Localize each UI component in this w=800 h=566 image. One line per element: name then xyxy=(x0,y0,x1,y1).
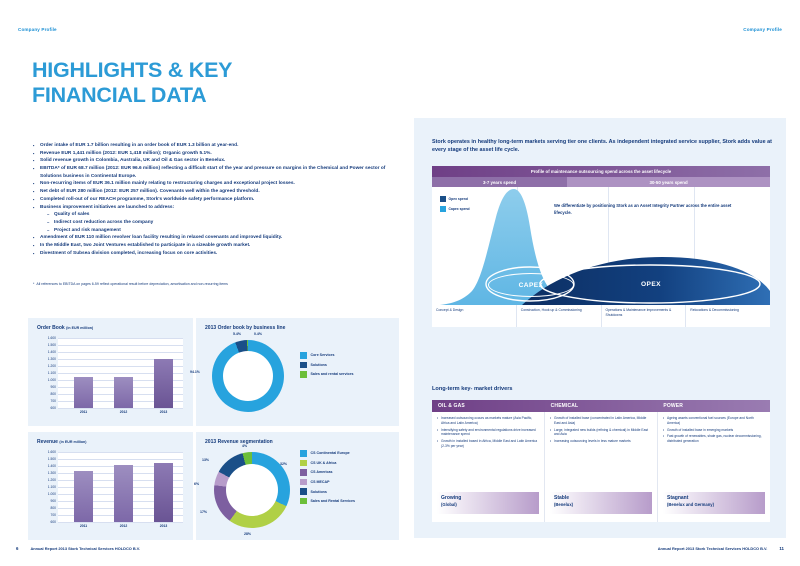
slice-value-label: 13% xyxy=(202,458,209,462)
legend-swatch xyxy=(300,488,307,495)
chart-unit: (in EUR million) xyxy=(59,440,86,444)
y-tick-label: 1.300 xyxy=(48,357,56,361)
legend-item: Sales and Rental Services xyxy=(300,498,355,505)
slice-value-label: 0.4% xyxy=(254,332,262,336)
chart-order-book: Order Book (in EUR million) 1.6001.5001.… xyxy=(28,318,193,426)
column-header: POWER xyxy=(657,400,770,412)
y-tick-label: 1.400 xyxy=(48,464,56,468)
slice-value-label: 4% xyxy=(242,444,247,448)
y-tick-label: 900 xyxy=(50,385,56,389)
table-body: •Increased outsourcing occurs as markets… xyxy=(432,412,770,522)
highlight-sub-item: –Quality of sales xyxy=(47,211,405,219)
gridline xyxy=(58,345,183,346)
legend-label: Sales and Rental Services xyxy=(311,499,356,503)
chart-legend: Core ServicesSolutionsSales and rental s… xyxy=(300,352,353,381)
chart-title-text: Revenue xyxy=(37,439,58,445)
dash-marker-icon: – xyxy=(47,219,54,227)
outlook-badge: Stable(Benelux) xyxy=(550,492,652,514)
driver-item: •Increased outsourcing occurs as markets… xyxy=(437,416,539,425)
outlook-badge: Stagnant(Benelux and Germany) xyxy=(663,492,765,514)
donut-hole xyxy=(223,351,273,401)
highlight-text: Amendment of EUR 110 million revolver lo… xyxy=(40,234,405,242)
chart-title: 2013 Revenue segmentation xyxy=(205,439,273,445)
footer-right: Annual Report 2013 Stork Technical Servi… xyxy=(658,546,784,551)
y-tick-label: 600 xyxy=(50,520,56,524)
legend-label: CS MECAP xyxy=(311,480,330,484)
highlight-item: ▪Order intake of EUR 1.7 billion resulti… xyxy=(33,142,405,150)
gridline xyxy=(58,452,183,453)
legend-label: Solutions xyxy=(311,490,327,494)
legend-label: Solutions xyxy=(311,363,327,367)
highlight-text: Non-recurring items of EUR 36.1 million … xyxy=(40,180,405,188)
driver-item-text: Ageing assets conventional fuel sources … xyxy=(667,416,765,425)
highlight-item: ▪Completed roll-out of our REACH program… xyxy=(33,196,405,204)
chart-revenue-segmentation: 2013 Revenue segmentation 32%28%17%6%13%… xyxy=(196,432,401,540)
driver-column: •Ageing assets conventional fuel sources… xyxy=(657,412,770,522)
legend-label: Sales and rental services xyxy=(311,372,354,376)
x-tick-label: 2013 xyxy=(150,524,178,528)
highlight-sub-item: –Project and risk management xyxy=(47,227,405,235)
legend-swatch xyxy=(300,498,307,505)
bar xyxy=(114,465,133,522)
y-tick-label: 1.200 xyxy=(48,478,56,482)
intro-paragraph: Stork operates in healthy long-term mark… xyxy=(432,138,772,154)
highlight-text: EBITDA* of EUR 68.7 million (2012: EUR 9… xyxy=(40,165,405,180)
footer-text-left: Annual Report 2013 Stork Technical Servi… xyxy=(30,546,140,551)
driver-item: •Increasing outsourcing levels in less m… xyxy=(550,439,652,444)
driver-item-text: Growth of installed base in emerging mar… xyxy=(667,428,733,433)
chart-title: Revenue (in EUR million) xyxy=(37,439,86,445)
driver-item: •Large, integrated new builds (refining … xyxy=(550,428,652,437)
driver-item-text: Increased outsourcing occurs as markets … xyxy=(441,416,539,425)
footer-left: 6 Annual Report 2013 Stork Technical Ser… xyxy=(16,546,140,551)
footnote-marker: * xyxy=(33,282,34,287)
y-tick-label: 700 xyxy=(50,399,56,403)
x-tick-label: 2013 xyxy=(150,410,178,414)
outlook-scope: (Benelux) xyxy=(554,502,652,507)
highlight-item: ▪Non-recurring items of EUR 36.1 million… xyxy=(33,180,405,188)
footnote-text: All references to EBITDA on pages 6-59 r… xyxy=(36,282,228,287)
highlight-item: ▪Solid revenue growth in Colombia, Austr… xyxy=(33,157,405,165)
chart-title: Order Book (in EUR million) xyxy=(37,325,93,331)
legend-item: Solutions xyxy=(300,488,355,495)
highlight-text: Business improvement initiatives are lau… xyxy=(40,204,405,212)
y-tick-label: 700 xyxy=(50,513,56,517)
legend-item: Capex spend xyxy=(440,206,470,212)
document-spread: Company Profile Company Profile HIGHLIGH… xyxy=(0,0,800,566)
gridline xyxy=(58,522,183,523)
bar xyxy=(114,377,133,408)
table-header-row: OIL & GASCHEMICALPOWER xyxy=(432,400,770,412)
donut-chart: 32%28%17%6%13%4% xyxy=(214,452,290,528)
page-title-line-2: FINANCIAL DATA xyxy=(32,83,362,108)
legend-label: Opex spend xyxy=(449,197,468,201)
bullet-marker-icon: ▪ xyxy=(33,234,40,242)
gridline xyxy=(58,352,183,353)
bar xyxy=(154,359,173,408)
lifecycle-span-right: 30-50 years spend xyxy=(567,177,770,187)
legend-label: Capex spend xyxy=(449,207,470,211)
highlight-text: Project and risk management xyxy=(54,227,405,235)
bullet-marker-icon: ▪ xyxy=(33,150,40,158)
driver-item-text: Growth in installed based in Africa, Mid… xyxy=(441,439,539,448)
driver-column: •Increased outsourcing occurs as markets… xyxy=(432,412,544,522)
bullet-marker-icon: ▪ xyxy=(33,180,40,188)
lifecycle-span-left: 3-7 years spend xyxy=(432,177,567,187)
legend-swatch xyxy=(300,352,307,359)
bullet-marker-icon: ▪ xyxy=(33,242,40,250)
lifecycle-stage-labels: Concept & DesignConstruction, Hook up & … xyxy=(432,305,770,327)
y-tick-label: 1.400 xyxy=(48,350,56,354)
legend-item: CS Continental Europe xyxy=(300,450,355,457)
footnote: * All references to EBITDA on pages 6-59… xyxy=(33,282,405,287)
y-tick-label: 900 xyxy=(50,499,56,503)
y-tick-label: 800 xyxy=(50,506,56,510)
running-head-left: Company Profile xyxy=(18,27,57,32)
bullet-marker-icon: ▪ xyxy=(33,142,40,150)
y-tick-label: 600 xyxy=(50,406,56,410)
slice-value-label: 6% xyxy=(194,482,199,486)
gridline xyxy=(58,408,183,409)
chart-revenue: Revenue (in EUR million) 1.6001.5001.400… xyxy=(28,432,193,540)
differentiation-note: We differentiate by positioning Stork as… xyxy=(554,203,744,216)
column-header: OIL & GAS xyxy=(432,400,545,412)
legend-swatch-opex xyxy=(440,196,446,202)
legend-item: Opex spend xyxy=(440,196,470,202)
highlight-item: ▪Divestment of Subsea division completed… xyxy=(33,250,405,258)
running-head-right: Company Profile xyxy=(743,27,782,32)
gridline xyxy=(58,459,183,460)
plot-area xyxy=(58,338,183,408)
donut-hole xyxy=(226,464,278,516)
legend-item: Core Services xyxy=(300,352,353,359)
highlight-text: Order intake of EUR 1.7 billion resultin… xyxy=(40,142,405,150)
bullet-marker-icon: ▪ xyxy=(33,250,40,258)
chart-unit: (in EUR million) xyxy=(66,326,93,330)
legend-swatch xyxy=(300,450,307,457)
highlight-text: Revenue EUR 1,441 million (2012: EUR 1,4… xyxy=(40,150,405,158)
slice-value-label: 28% xyxy=(244,532,251,536)
highlight-text: Completed roll-out of our REACH programm… xyxy=(40,196,405,204)
bar xyxy=(154,463,173,522)
slice-value-label: 94.1% xyxy=(190,370,200,374)
y-tick-label: 1.100 xyxy=(48,485,56,489)
lifecycle-legend: Opex spend Capex spend xyxy=(440,196,470,216)
legend-item: CS UK & Africa xyxy=(300,460,355,467)
page-number-left: 6 xyxy=(16,546,18,551)
outlook-scope: (Benelux and Germany) xyxy=(667,502,765,507)
outlook-scope: (Global) xyxy=(441,502,539,507)
legend-label: CS UK & Africa xyxy=(311,461,337,465)
y-tick-label: 1.200 xyxy=(48,364,56,368)
bar xyxy=(74,377,93,409)
highlight-text: Indirect cost reduction across the compa… xyxy=(54,219,405,227)
legend-swatch xyxy=(300,371,307,378)
bullet-marker-icon: ▪ xyxy=(33,165,40,180)
highlight-item: ▪EBITDA* of EUR 68.7 million (2012: EUR … xyxy=(33,165,405,180)
x-tick-label: 2011 xyxy=(70,524,98,528)
highlight-item: ▪In the Middle East, two Joint Ventures … xyxy=(33,242,405,250)
lifecycle-diagram: Profile of maintenance outsourcing spend… xyxy=(432,166,770,327)
page-title-line-1: HIGHLIGHTS & KEY xyxy=(32,58,362,83)
donut-chart: 94.1%5.4%0.4% xyxy=(212,340,284,412)
column-header: CHEMICAL xyxy=(545,400,658,412)
legend-label: Core Services xyxy=(311,353,335,357)
dash-marker-icon: – xyxy=(47,227,54,235)
y-tick-label: 1.000 xyxy=(48,378,56,382)
highlight-text: Quality of sales xyxy=(54,211,405,219)
lifecycle-plot: Opex spend Capex spend We differentiate … xyxy=(432,187,770,305)
y-tick-label: 1.100 xyxy=(48,371,56,375)
highlight-sub-item: –Indirect cost reduction across the comp… xyxy=(47,219,405,227)
driver-item-text: Large, integrated new builds (refining &… xyxy=(554,428,652,437)
outlook-badge: Growing(Global) xyxy=(437,492,539,514)
lifecycle-header: Profile of maintenance outsourcing spend… xyxy=(432,166,770,177)
bullet-marker-icon: ▪ xyxy=(33,157,40,165)
highlight-item: ▪Business improvement initiatives are la… xyxy=(33,204,405,212)
legend-swatch xyxy=(300,469,307,476)
highlight-text: Divestment of Subsea division completed,… xyxy=(40,250,405,258)
market-drivers-table: OIL & GASCHEMICALPOWER •Increased outsou… xyxy=(432,400,770,522)
driver-item: •Intensifying safety and environmental r… xyxy=(437,428,539,437)
driver-item-text: Intensifying safety and environmental re… xyxy=(441,428,539,437)
slice-value-label: 32% xyxy=(280,462,287,466)
driver-item-text: Growth of installed base (concentrated i… xyxy=(554,416,652,425)
y-tick-label: 1.300 xyxy=(48,471,56,475)
bullet-marker-icon: ▪ xyxy=(33,188,40,196)
legend-item: Sales and rental services xyxy=(300,371,353,378)
highlight-item: ▪Revenue EUR 1,441 million (2012: EUR 1,… xyxy=(33,150,405,158)
driver-item: •Growth of installed base (concentrated … xyxy=(550,416,652,425)
highlight-item: ▪Amendment of EUR 110 million revolver l… xyxy=(33,234,405,242)
driver-column: •Growth of installed base (concentrated … xyxy=(544,412,657,522)
legend-item: CS Americas xyxy=(300,469,355,476)
slice-value-label: 17% xyxy=(200,510,207,514)
drivers-title: Long-term key- market drivers xyxy=(432,386,513,392)
driver-item: •Growth in installed based in Africa, Mi… xyxy=(437,439,539,448)
page-title: HIGHLIGHTS & KEY FINANCIAL DATA xyxy=(32,58,362,107)
y-tick-label: 1.000 xyxy=(48,492,56,496)
driver-item: •Ageing assets conventional fuel sources… xyxy=(663,416,765,425)
chart-legend: CS Continental EuropeCS UK & AfricaCS Am… xyxy=(300,450,355,508)
y-tick-label: 1.500 xyxy=(48,457,56,461)
legend-swatch-capex xyxy=(440,206,446,212)
bullet-marker-icon: ▪ xyxy=(33,204,40,212)
y-tick-label: 1.500 xyxy=(48,343,56,347)
slice-value-label: 5.4% xyxy=(233,332,241,336)
legend-swatch xyxy=(300,460,307,467)
page-number-right: 11 xyxy=(779,546,784,551)
x-tick-label: 2012 xyxy=(110,410,138,414)
chart-order-book-by-business-line: 2013 Order book by business line 94.1%5.… xyxy=(196,318,401,426)
legend-swatch xyxy=(300,362,307,369)
driver-item: •Growth of installed base in emerging ma… xyxy=(663,428,765,433)
driver-item: •Fast growth of renewables, shale gas, n… xyxy=(663,434,765,443)
lifecycle-stage: Construction, Hook up & Commissioning xyxy=(516,305,601,327)
highlight-item: ▪Net debt of EUR 280 million (2012: EUR … xyxy=(33,188,405,196)
legend-swatch xyxy=(300,479,307,486)
gridline xyxy=(58,338,183,339)
bullet-marker-icon: ▪ xyxy=(33,196,40,204)
legend-item: CS MECAP xyxy=(300,479,355,486)
highlight-text: In the Middle East, two Joint Ventures e… xyxy=(40,242,405,250)
plot-area xyxy=(58,452,183,522)
legend-item: Solutions xyxy=(300,362,353,369)
driver-item-text: Fast growth of renewables, shale gas, nu… xyxy=(667,434,765,443)
lifecycle-stage: Relocations & Decommissioning xyxy=(685,305,770,327)
bar xyxy=(74,471,93,522)
chart-title-text: Order Book xyxy=(37,325,65,331)
x-tick-label: 2012 xyxy=(110,524,138,528)
legend-label: CS Americas xyxy=(311,470,333,474)
y-tick-label: 800 xyxy=(50,392,56,396)
page-gutter xyxy=(399,0,401,566)
chart-title: 2013 Order book by business line xyxy=(205,325,285,331)
y-tick-label: 1.600 xyxy=(48,450,56,454)
highlights-list: ▪Order intake of EUR 1.7 billion resulti… xyxy=(33,142,405,257)
opex-pill: OPEX xyxy=(542,271,760,297)
lifecycle-stage: Concept & Design xyxy=(432,305,516,327)
highlight-text: Solid revenue growth in Colombia, Austra… xyxy=(40,157,405,165)
legend-label: CS Continental Europe xyxy=(311,451,350,455)
lifecycle-stage: Operations & Maintenance Improvements & … xyxy=(601,305,686,327)
highlight-text: Net debt of EUR 280 million (2012: EUR 2… xyxy=(40,188,405,196)
y-tick-label: 1.600 xyxy=(48,336,56,340)
footer-text-right: Annual Report 2013 Stork Technical Servi… xyxy=(658,546,768,551)
dash-marker-icon: – xyxy=(47,211,54,219)
driver-item-text: Increasing outsourcing levels in less ma… xyxy=(554,439,631,444)
x-tick-label: 2011 xyxy=(70,410,98,414)
